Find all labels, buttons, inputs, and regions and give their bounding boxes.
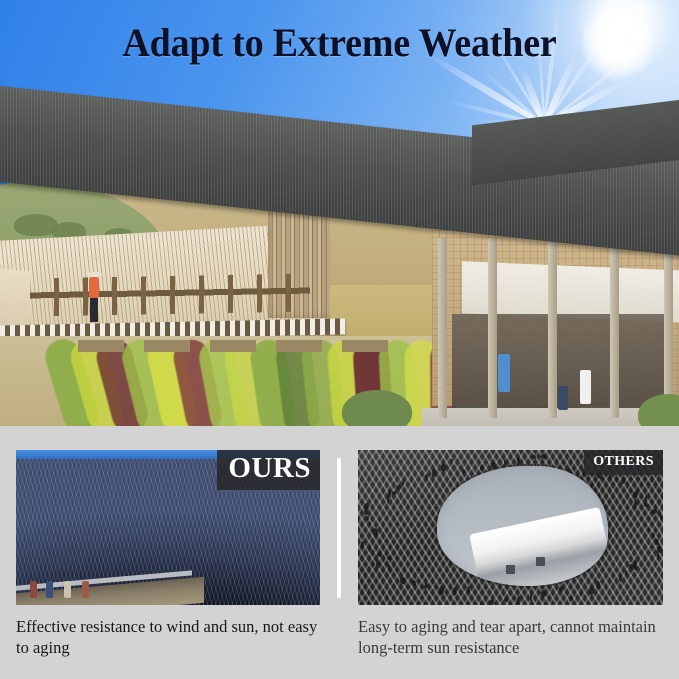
net-tear-fiber [425, 583, 428, 588]
person-blue-shirt [498, 354, 510, 392]
net-tear-fiber [652, 533, 655, 538]
person-white-shirt [580, 370, 591, 404]
net-tear-fiber [396, 485, 401, 490]
comparison-section: OURS Effective resistance to wind and su… [0, 426, 679, 679]
net-tear-fiber [369, 546, 371, 552]
net-tear-fiber [570, 596, 573, 601]
seedling-crate [144, 338, 190, 352]
net-tear-fiber [369, 522, 371, 526]
open-air-building [352, 118, 679, 418]
net-tear-fiber [660, 514, 662, 520]
net-tear-fiber [412, 580, 416, 586]
net-tear-fiber [400, 577, 405, 584]
panel-divider [337, 458, 341, 598]
net-tear-fiber [451, 459, 453, 463]
net-tear-fiber [559, 586, 563, 592]
roof-vent [536, 557, 545, 566]
net-tear-fiber [388, 564, 390, 572]
page-title: Adapt to Extreme Weather [17, 19, 662, 66]
net-tear-fiber [648, 528, 650, 532]
roof-vent [506, 565, 515, 574]
hero-section: Adapt to Extreme Weather [0, 0, 679, 426]
net-tear-fiber [580, 592, 582, 596]
net-tear-fiber [467, 586, 470, 593]
net-tear-fiber [432, 469, 436, 477]
farmer-legs [90, 298, 98, 322]
person-figure [46, 581, 53, 598]
net-tear-fiber [402, 480, 404, 486]
net-tear-fiber [441, 463, 446, 472]
net-tear-fiber [388, 489, 391, 498]
people-under-net [24, 581, 134, 601]
net-tear-fiber [589, 586, 594, 595]
net-tear-fiber [625, 570, 627, 576]
others-image: OTHERS [358, 450, 663, 605]
ours-panel: OURS Effective resistance to wind and su… [16, 450, 320, 659]
net-tear-fiber [517, 596, 520, 605]
net-tear-fiber [377, 552, 382, 557]
seedling-crate [276, 338, 322, 352]
white-roof-edge [469, 507, 608, 586]
net-tear-fiber [364, 509, 368, 515]
seedling-crate [210, 338, 256, 352]
ours-badge: OURS [217, 450, 320, 490]
net-tear-fiber [541, 454, 546, 459]
net-tear-fiber [532, 455, 536, 459]
net-tear-fiber [453, 587, 457, 595]
net-tear-fiber [376, 560, 379, 569]
net-tear-fiber [645, 495, 647, 503]
support-post [488, 238, 497, 418]
net-tear-fiber [517, 457, 520, 466]
net-tear-fiber [657, 552, 659, 560]
farmer-torso [89, 277, 99, 299]
net-tear-fiber [361, 541, 364, 548]
net-tear-fiber [462, 469, 465, 474]
torn-hole [437, 466, 608, 587]
net-tear-fiber [504, 598, 508, 602]
net-tear-fiber [634, 499, 637, 508]
net-tear-fiber [655, 539, 659, 545]
net-tear-fiber [541, 590, 546, 597]
support-post [548, 238, 557, 418]
net-tear-fiber [504, 459, 506, 467]
net-tear-fiber [621, 478, 625, 484]
others-badge: OTHERS [584, 450, 663, 475]
net-tear-fiber [491, 462, 496, 469]
net-tear-fiber [489, 600, 494, 605]
person-child [558, 386, 568, 410]
others-panel: OTHERS Easy to aging and tear apart, can… [358, 450, 663, 659]
net-tear-fiber [596, 581, 600, 589]
person-figure [64, 581, 71, 598]
net-tear-fiber [480, 601, 482, 605]
person-figure [30, 581, 37, 598]
support-post [438, 238, 447, 418]
support-post [610, 238, 619, 418]
ours-caption: Effective resistance to wind and sun, no… [16, 616, 320, 659]
foreground-bush [342, 390, 412, 426]
seedling-crate [78, 338, 124, 352]
net-tear-fiber [392, 491, 396, 495]
net-tear-fiber [373, 528, 378, 537]
net-tear-fiber [619, 575, 622, 582]
farmer-figure [86, 272, 102, 324]
net-tear-fiber [652, 509, 657, 514]
ours-image: OURS [16, 450, 320, 605]
product-comparison-infographic: Adapt to Extreme Weather OURS Effective … [0, 0, 679, 679]
wooden-railing [30, 274, 310, 317]
net-tear-fiber [480, 465, 484, 471]
others-caption: Easy to aging and tear apart, cannot mai… [358, 616, 663, 659]
net-tear-fiber [439, 586, 444, 595]
net-tear-fiber [366, 516, 369, 521]
net-tear-fiber [387, 556, 391, 560]
support-post [664, 238, 673, 418]
net-tear-fiber [425, 474, 428, 481]
net-tear-fiber [644, 503, 648, 507]
net-tear-fiber [633, 491, 638, 498]
net-tear-fiber [530, 593, 532, 601]
net-tear-fiber [609, 475, 612, 480]
net-tear-fiber [364, 503, 369, 510]
person-figure [82, 581, 89, 598]
